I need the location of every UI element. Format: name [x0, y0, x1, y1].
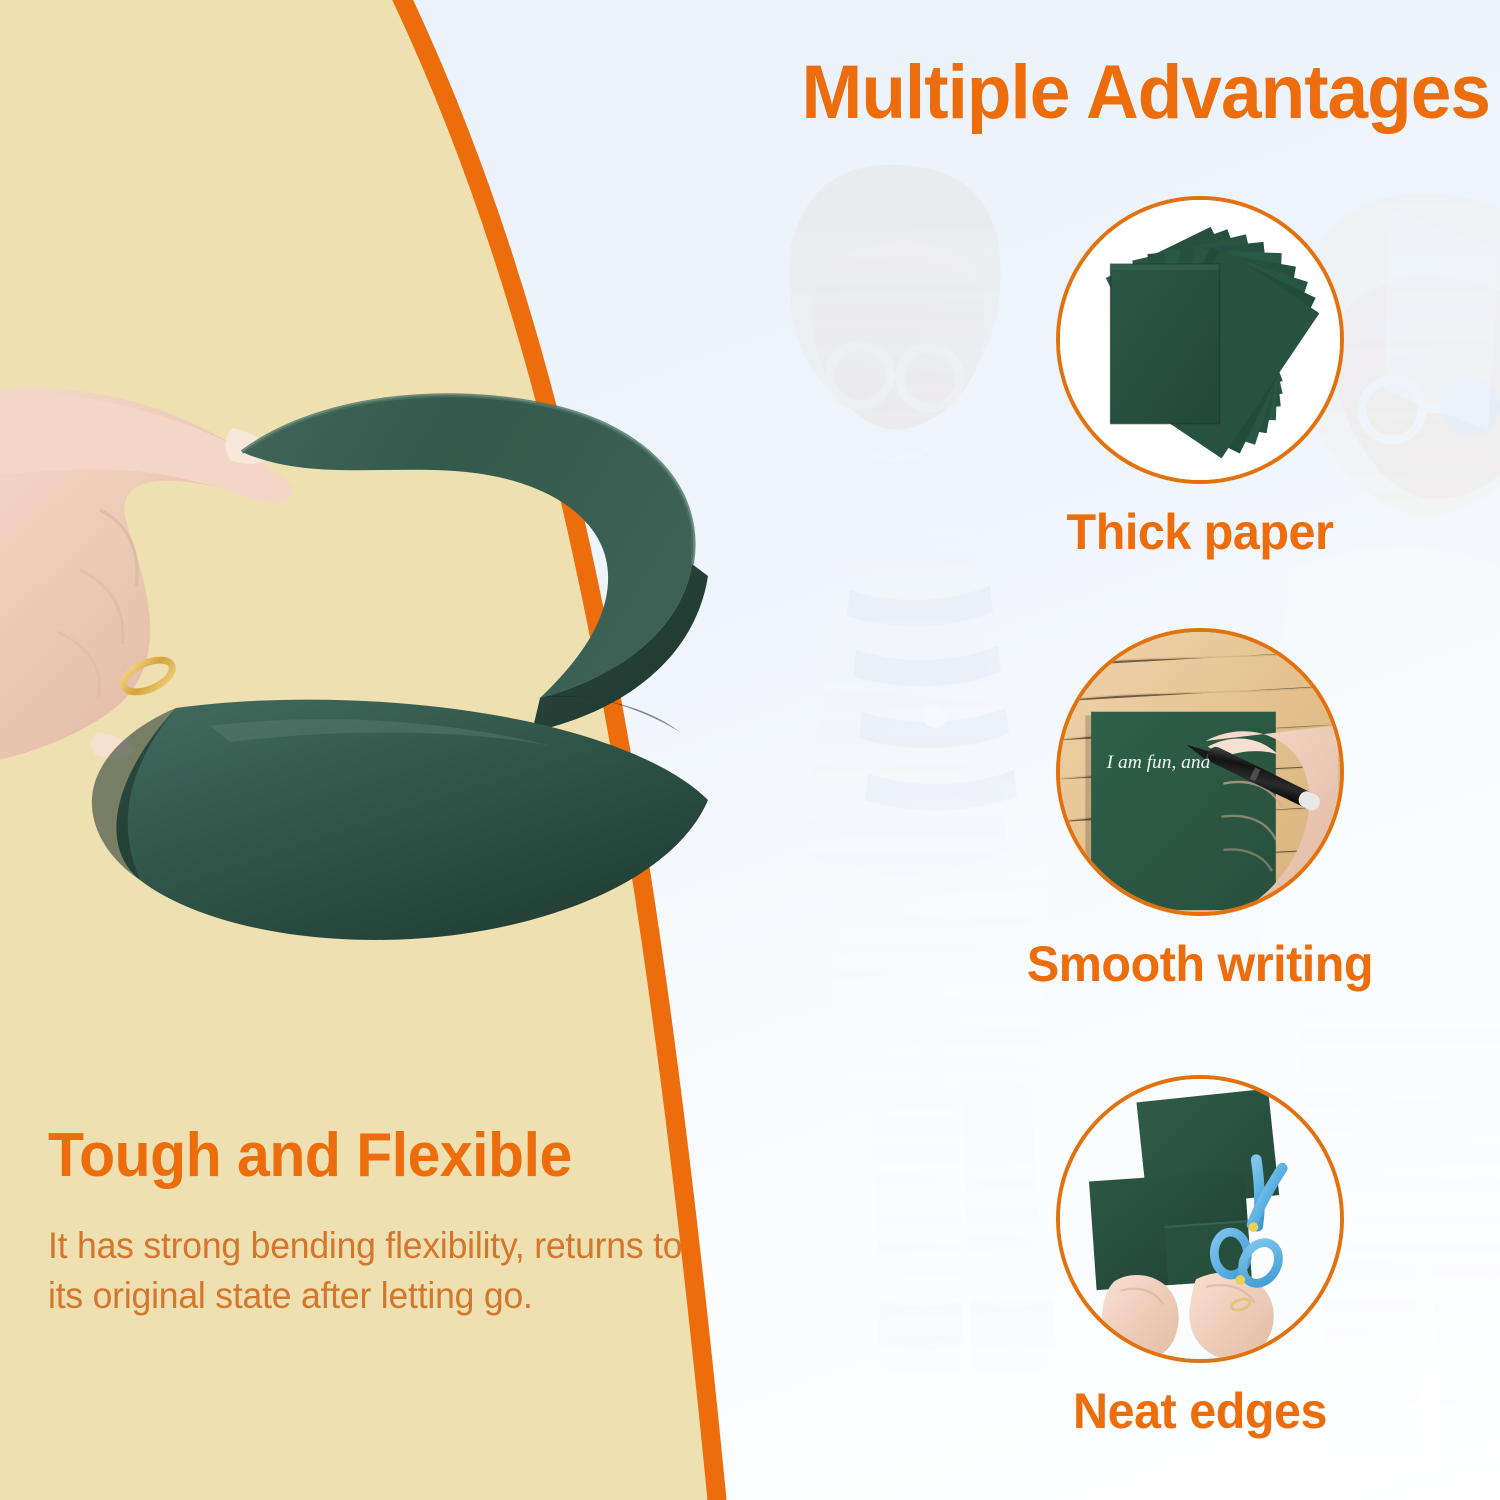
paper-lower-panel — [116, 700, 708, 940]
handwriting-text: I am fun, and — [1106, 752, 1211, 773]
paper-upper-curve — [242, 395, 694, 698]
feature-thick-paper-image — [1056, 196, 1344, 484]
page-title: Multiple Advantages — [655, 55, 1490, 131]
front-sheet — [1111, 264, 1220, 423]
feature-smooth-writing-label: Smooth writing — [1006, 938, 1394, 991]
product-infographic: Multiple Advantages Tough and Flexible I… — [0, 0, 1500, 1500]
left-panel-body: It has strong bending flexibility, retur… — [48, 1221, 758, 1321]
feature-smooth-writing: I am fun, and Smooth writing — [1000, 628, 1400, 991]
feature-smooth-writing-image: I am fun, and — [1056, 628, 1344, 916]
feature-neat-edges-label: Neat edges — [1006, 1385, 1394, 1438]
left-text-block: Tough and Flexible It has strong bending… — [48, 1125, 788, 1321]
feature-thick-paper-label: Thick paper — [1006, 506, 1394, 559]
left-panel-title: Tough and Flexible — [48, 1125, 751, 1187]
feature-neat-edges-image — [1056, 1075, 1344, 1363]
feature-neat-edges: Neat edges — [1000, 1075, 1400, 1438]
feature-thick-paper: Thick paper — [1000, 196, 1400, 559]
left-panel-body-line-2: its original state after letting go. — [48, 1271, 758, 1321]
left-panel-body-line-1: It has strong bending flexibility, retur… — [48, 1221, 758, 1271]
hero-image-bending-paper — [0, 360, 780, 1000]
